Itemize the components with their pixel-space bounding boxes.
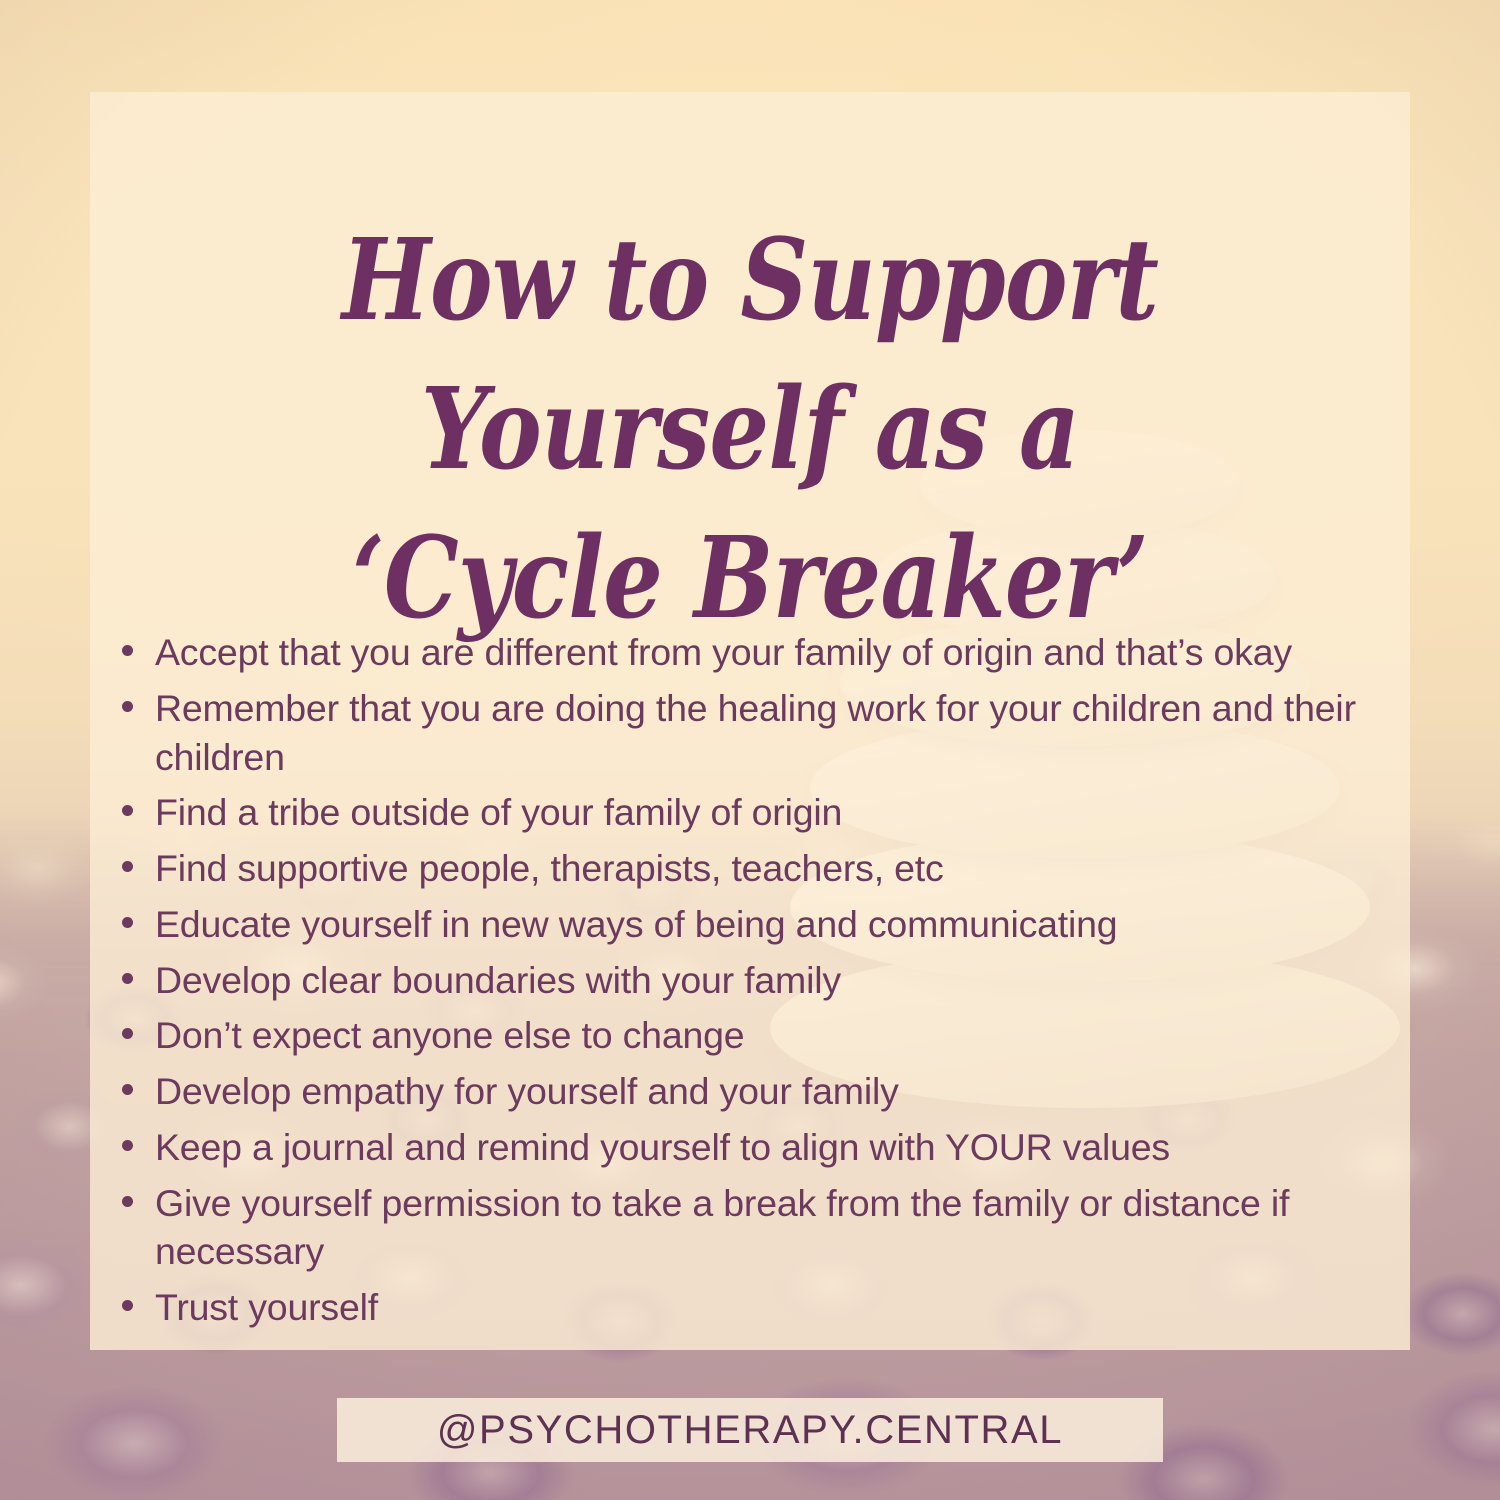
list-item: Trust yourself: [115, 1283, 1405, 1332]
poster-canvas: How to Support Yourself as a ‘Cycle Brea…: [0, 0, 1500, 1500]
list-item: Educate yourself in new ways of being an…: [115, 900, 1405, 949]
bullet-dot-icon: [122, 917, 133, 928]
bullet-dot-icon: [122, 1300, 133, 1311]
tips-list: Accept that you are different from your …: [115, 628, 1405, 1339]
bullet-dot-icon: [122, 1140, 133, 1151]
title-line-2: Yourself as a: [196, 356, 1305, 505]
list-item-label: Trust yourself: [155, 1286, 378, 1328]
social-handle[interactable]: @PSYCHOTHERAPY.CENTRAL: [437, 1408, 1063, 1453]
list-item-label: Develop clear boundaries with your famil…: [155, 959, 841, 1001]
list-item-label: Give yourself permission to take a break…: [155, 1182, 1289, 1273]
list-item: Don’t expect anyone else to change: [115, 1011, 1405, 1060]
list-item-label: Keep a journal and remind yourself to al…: [155, 1126, 1170, 1168]
bullet-dot-icon: [122, 1196, 133, 1207]
list-item: Accept that you are different from your …: [115, 628, 1405, 677]
bullet-dot-icon: [122, 645, 133, 656]
list-item: Develop empathy for yourself and your fa…: [115, 1067, 1405, 1116]
list-item-label: Accept that you are different from your …: [155, 631, 1292, 673]
bullet-dot-icon: [122, 805, 133, 816]
list-item-label: Remember that you are doing the healing …: [155, 687, 1356, 778]
bullet-dot-icon: [122, 973, 133, 984]
list-item-label: Find a tribe outside of your family of o…: [155, 791, 842, 833]
list-item: Remember that you are doing the healing …: [115, 684, 1405, 782]
bullet-dot-icon: [122, 861, 133, 872]
list-item-label: Educate yourself in new ways of being an…: [155, 903, 1117, 945]
footer-bar: @PSYCHOTHERAPY.CENTRAL: [337, 1398, 1163, 1462]
page-title: How to Support Yourself as a ‘Cycle Brea…: [90, 207, 1410, 654]
list-item: Develop clear boundaries with your famil…: [115, 956, 1405, 1005]
list-item-label: Find supportive people, therapists, teac…: [155, 847, 944, 889]
list-item: Keep a journal and remind yourself to al…: [115, 1123, 1405, 1172]
bullet-dot-icon: [122, 1084, 133, 1095]
list-item: Find supportive people, therapists, teac…: [115, 844, 1405, 893]
bullet-dot-icon: [122, 701, 133, 712]
list-item-label: Develop empathy for yourself and your fa…: [155, 1070, 899, 1112]
title-line-1: How to Support: [196, 207, 1305, 356]
list-item: Find a tribe outside of your family of o…: [115, 788, 1405, 837]
list-item-label: Don’t expect anyone else to change: [155, 1014, 744, 1056]
bullet-dot-icon: [122, 1028, 133, 1039]
list-item: Give yourself permission to take a break…: [115, 1179, 1405, 1277]
